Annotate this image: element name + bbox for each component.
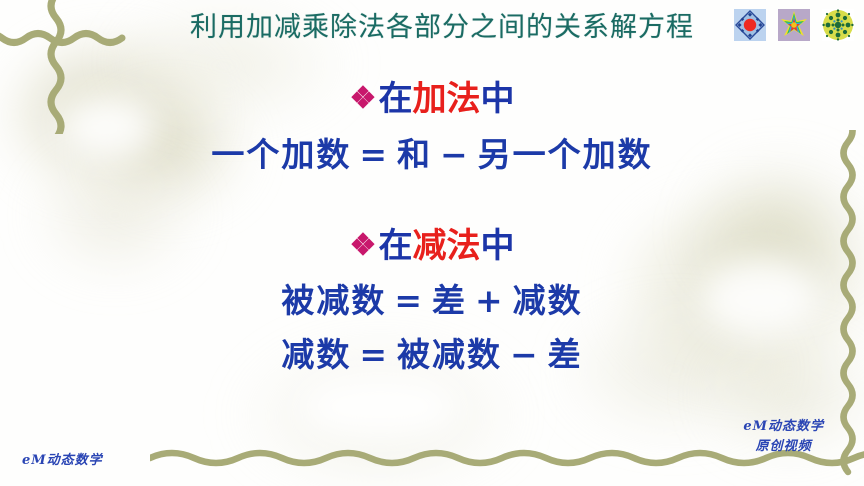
formula-left-term: 一个加数 bbox=[211, 135, 351, 174]
formula-left-term: 减数 bbox=[281, 335, 351, 374]
bullet-diamond-icon: ❖ bbox=[350, 81, 377, 116]
blue-diamond-red-circle-icon bbox=[734, 9, 766, 41]
slide-canvas: 利用加减乘除法各部分之间的关系解方程 bbox=[0, 0, 864, 486]
formula-operator: − bbox=[510, 335, 540, 374]
heading-subtraction: ❖在减法中 bbox=[0, 227, 864, 266]
green-mandala-circle-icon bbox=[822, 9, 854, 41]
colorful-star-kaleidoscope-icon bbox=[778, 9, 810, 41]
formula-operator: − bbox=[440, 135, 470, 174]
formula-subtraction-1: 被减数=差+减数 bbox=[0, 281, 864, 321]
heading-addition-part-1: 在 bbox=[378, 79, 412, 119]
bullet-diamond-icon: ❖ bbox=[350, 228, 377, 263]
heading-subtraction-part-1: 在 bbox=[378, 226, 412, 266]
heading-subtraction-part-2: 减法 bbox=[412, 226, 480, 266]
slide-content: ❖在加法中 一个加数=和−另一个加数 ❖在减法中 被减数=差+减数 减数=被减数… bbox=[0, 60, 864, 375]
formula-term-2: 减数 bbox=[513, 281, 583, 320]
heading-subtraction-part-3: 中 bbox=[480, 226, 514, 266]
formula-term-1: 被减数 bbox=[397, 335, 502, 374]
watermark-bottom-right-line1: eM动态数学 bbox=[743, 417, 824, 437]
section-subtraction: ❖在减法中 被减数=差+减数 减数=被减数−差 bbox=[0, 227, 864, 375]
watermark-bottom-left: eM动态数学 bbox=[22, 449, 103, 468]
decorative-icon-row bbox=[734, 9, 854, 41]
watermark-bottom-right-line2: 原创视频 bbox=[743, 437, 824, 457]
watermark-bottom-right: eM动态数学 原创视频 bbox=[743, 417, 824, 456]
formula-equals: = bbox=[394, 281, 424, 320]
formula-addition-1: 一个加数=和−另一个加数 bbox=[0, 135, 864, 175]
formula-left-term: 被减数 bbox=[281, 281, 386, 320]
heading-addition-part-2: 加法 bbox=[412, 79, 480, 119]
formula-equals: = bbox=[359, 335, 389, 374]
formula-operator: + bbox=[475, 281, 505, 320]
heading-addition: ❖在加法中 bbox=[0, 80, 864, 119]
formula-term-2: 差 bbox=[548, 335, 583, 374]
formula-term-1: 差 bbox=[432, 281, 467, 320]
formula-term-1: 和 bbox=[397, 135, 432, 174]
formula-equals: = bbox=[359, 135, 389, 174]
heading-addition-part-3: 中 bbox=[480, 79, 514, 119]
formula-subtraction-2: 减数=被减数−差 bbox=[0, 335, 864, 375]
section-addition: ❖在加法中 一个加数=和−另一个加数 bbox=[0, 80, 864, 175]
formula-term-2: 另一个加数 bbox=[478, 135, 653, 174]
